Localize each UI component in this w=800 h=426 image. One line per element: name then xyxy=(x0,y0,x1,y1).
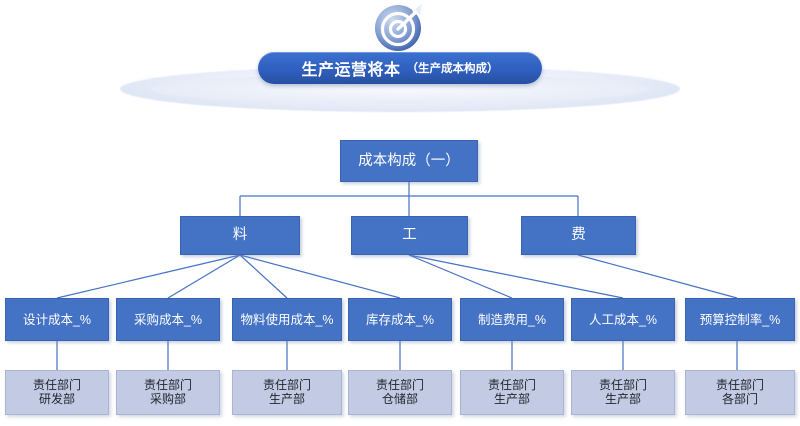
node-root-label: 成本构成（一） xyxy=(355,153,463,169)
node-dept-2-name: 采购部 xyxy=(150,392,186,406)
node-metric-purchase-cost[interactable]: 采购成本_% xyxy=(116,298,220,341)
node-dept-1[interactable]: 责任部门 研发部 xyxy=(5,370,109,415)
node-dept-7[interactable]: 责任部门 各部门 xyxy=(685,370,795,415)
node-dept-6-name: 生产部 xyxy=(605,392,641,406)
node-dept-1-name: 研发部 xyxy=(39,392,75,406)
node-metric-material-usage-cost[interactable]: 物料使用成本_% xyxy=(232,298,342,341)
node-level2-expense-label: 费 xyxy=(568,227,589,243)
node-dept-6-title: 责任部门 xyxy=(599,378,647,392)
node-dept-4-title: 责任部门 xyxy=(376,378,424,392)
node-level2-material[interactable]: 料 xyxy=(180,216,300,255)
node-dept-2-text: 责任部门 采购部 xyxy=(141,379,195,406)
node-dept-4-text: 责任部门 仓储部 xyxy=(373,379,427,406)
node-metric-labor-cost[interactable]: 人工成本_% xyxy=(571,298,675,341)
diagram-canvas: 生产运营将本 （生产成本构成） 成本构成（一） 料 xyxy=(0,0,800,426)
node-dept-3-title: 责任部门 xyxy=(263,378,311,392)
node-metric-material-usage-cost-label: 物料使用成本_% xyxy=(237,313,336,327)
node-dept-3-name: 生产部 xyxy=(269,392,305,406)
node-dept-5-name: 生产部 xyxy=(494,392,530,406)
node-metric-budget-control-rate[interactable]: 预算控制率_% xyxy=(685,298,795,341)
node-dept-1-title: 责任部门 xyxy=(33,378,81,392)
node-dept-7-text: 责任部门 各部门 xyxy=(713,379,767,406)
node-dept-4[interactable]: 责任部门 仓储部 xyxy=(348,370,452,415)
node-metric-design-cost-label: 设计成本_% xyxy=(20,313,94,327)
node-dept-6[interactable]: 责任部门 生产部 xyxy=(571,370,675,415)
node-metric-manufacturing-expense[interactable]: 制造费用_% xyxy=(460,298,564,341)
node-dept-2[interactable]: 责任部门 采购部 xyxy=(116,370,220,415)
node-level2-material-label: 料 xyxy=(230,227,251,243)
node-metric-design-cost[interactable]: 设计成本_% xyxy=(5,298,109,341)
node-metric-manufacturing-expense-label: 制造费用_% xyxy=(475,313,549,327)
node-metric-inventory-cost[interactable]: 库存成本_% xyxy=(348,298,452,341)
node-metric-budget-control-rate-label: 预算控制率_% xyxy=(697,313,784,327)
node-level2-labor[interactable]: 工 xyxy=(351,216,468,255)
node-dept-5[interactable]: 责任部门 生产部 xyxy=(460,370,564,415)
node-dept-1-text: 责任部门 研发部 xyxy=(30,379,84,406)
node-dept-6-text: 责任部门 生产部 xyxy=(596,379,650,406)
node-metric-purchase-cost-label: 采购成本_% xyxy=(131,313,205,327)
node-dept-5-title: 责任部门 xyxy=(488,378,536,392)
node-dept-3[interactable]: 责任部门 生产部 xyxy=(232,370,342,415)
node-metric-labor-cost-label: 人工成本_% xyxy=(586,313,660,327)
node-dept-7-title: 责任部门 xyxy=(716,378,764,392)
node-metric-inventory-cost-label: 库存成本_% xyxy=(363,313,437,327)
connector-lines xyxy=(0,0,800,426)
node-dept-5-text: 责任部门 生产部 xyxy=(485,379,539,406)
node-dept-2-title: 责任部门 xyxy=(144,378,192,392)
node-root[interactable]: 成本构成（一） xyxy=(340,140,478,182)
node-dept-3-text: 责任部门 生产部 xyxy=(260,379,314,406)
node-dept-7-name: 各部门 xyxy=(722,392,758,406)
node-level2-expense[interactable]: 费 xyxy=(521,216,636,255)
node-dept-4-name: 仓储部 xyxy=(382,392,418,406)
node-level2-labor-label: 工 xyxy=(399,227,420,243)
